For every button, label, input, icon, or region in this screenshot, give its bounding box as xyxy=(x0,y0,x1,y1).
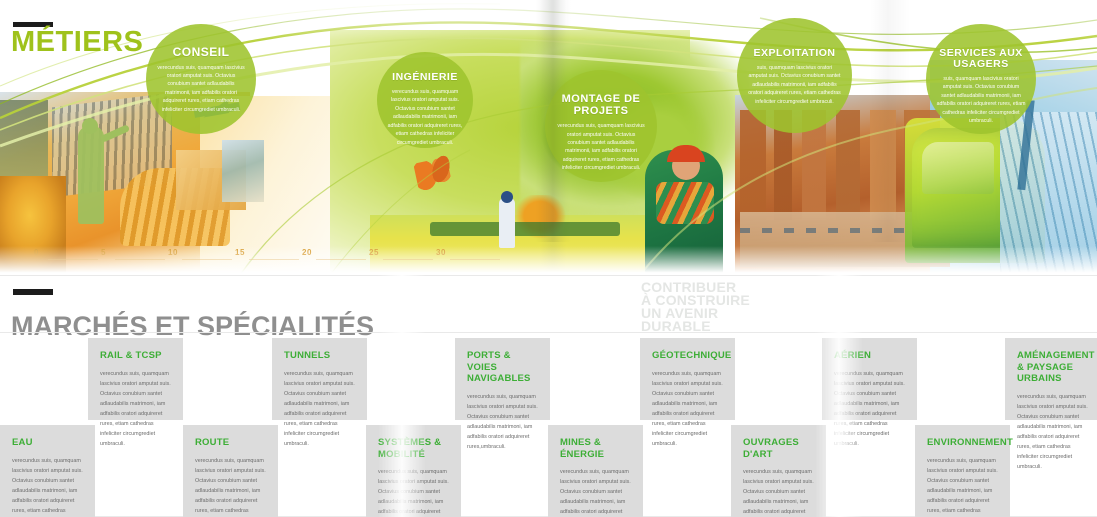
bubble-montage-de-projets[interactable]: MONTAGE DE PROJETS verecundus suis, quam… xyxy=(545,70,657,182)
bubble-services-title: SERVICES AUX USAGERS xyxy=(936,48,1026,70)
brochure-spread: CONSEIL verecundus suis, quamquam lasciv… xyxy=(0,0,1097,517)
market-card-body: verecundus suis, quamquam lascivius orat… xyxy=(834,369,906,449)
page-title-metiers: MÉTIERS xyxy=(11,28,143,57)
market-card-body: verecundus suis, quamquam lascivius orat… xyxy=(743,467,815,517)
markets-section: MARCHÉS ET SPÉCIALITÉS RAIL & TCSPverecu… xyxy=(0,275,1097,517)
market-card-title: TUNNELS xyxy=(284,350,356,362)
market-card-body: verecundus suis, quamquam lascivius orat… xyxy=(378,467,450,517)
market-card-title: RAIL & TCSP xyxy=(100,350,172,362)
market-card-body: verecundus suis, quamquam lascivius orat… xyxy=(100,369,172,449)
market-card-body: verecundus suis, quamquam lascivius orat… xyxy=(12,456,84,517)
market-card[interactable]: AÉRIENverecundus suis, quamquam lasciviu… xyxy=(822,338,917,420)
market-card[interactable]: AMÉNAGEMENT & PAYSAGE URBAINSverecundus … xyxy=(1005,338,1097,420)
market-card-title: AMÉNAGEMENT & PAYSAGE URBAINS xyxy=(1017,350,1089,385)
bubble-services-aux-usagers[interactable]: SERVICES AUX USAGERS suis, quamquam lasc… xyxy=(926,24,1036,134)
market-card-title: EAU xyxy=(12,437,84,449)
section-divider-top xyxy=(0,275,1097,276)
market-card-title: AÉRIEN xyxy=(834,350,906,362)
hero-bottom-fade xyxy=(0,246,1097,275)
market-card-body: verecundus suis, quamquam lascivius orat… xyxy=(284,369,356,449)
market-card[interactable]: PORTS & VOIES NAVIGABLESverecundus suis,… xyxy=(455,338,550,420)
market-card[interactable]: SYSTÈMES & MOBILITÉverecundus suis, quam… xyxy=(366,425,461,517)
bubble-montage-body: verecundus suis, quamquam lascivius orat… xyxy=(555,122,647,173)
market-card-body: verecundus suis, quamquam lascivius orat… xyxy=(652,369,724,449)
market-card[interactable]: ROUTEverecundus suis, quamquam lascivius… xyxy=(183,425,278,517)
market-card-title: GÉOTECHNIQUE xyxy=(652,350,724,362)
bubble-exploitation[interactable]: EXPLOITATION suis, quamquam lascivius or… xyxy=(737,18,852,133)
marches-rule xyxy=(13,289,53,295)
market-card-title: MINES & ÉNERGIE xyxy=(560,437,632,460)
market-card-body: verecundus suis, quamquam lascivius orat… xyxy=(560,467,632,517)
bubble-conseil-title: CONSEIL xyxy=(173,46,230,59)
tagline-watermark: CONTRIBUERÀ CONSTRUIREUN AVENIRDURABLE xyxy=(641,281,750,333)
market-card[interactable]: EAUverecundus suis, quamquam lascivius o… xyxy=(0,425,95,517)
bubble-exploitation-title: EXPLOITATION xyxy=(753,48,835,59)
market-card[interactable]: GÉOTECHNIQUEverecundus suis, quamquam la… xyxy=(640,338,735,420)
section-divider-mid xyxy=(0,332,1097,333)
market-card-body: verecundus suis, quamquam lascivius orat… xyxy=(467,392,539,452)
market-card-title: ENVIRONNEMENT xyxy=(927,437,999,449)
market-card[interactable]: OUVRAGES D'ARTverecundus suis, quamquam … xyxy=(731,425,826,517)
market-card-title: ROUTE xyxy=(195,437,267,449)
bubble-exploitation-body: suis, quamquam lascivius oratori amputat… xyxy=(747,64,842,106)
hero-collage: CONSEIL verecundus suis, quamquam lasciv… xyxy=(0,0,1097,275)
bubble-montage-title: MONTAGE DE PROJETS xyxy=(555,94,647,117)
bubble-ingenierie[interactable]: INGÉNIERIE verecundus suis, quamquam las… xyxy=(377,52,473,148)
market-card-body: verecundus suis, quamquam lascivius orat… xyxy=(1017,392,1089,472)
market-card-title: OUVRAGES D'ART xyxy=(743,437,815,460)
bubble-ingenierie-body: verecundus suis, quamquam lascivius orat… xyxy=(387,88,463,147)
tagline-line: DURABLE xyxy=(641,320,750,333)
market-card-title: PORTS & VOIES NAVIGABLES xyxy=(467,350,539,385)
bubble-services-body: suis, quamquam lascivius oratori amputat… xyxy=(936,75,1026,126)
market-card-body: verecundus suis, quamquam lascivius orat… xyxy=(927,456,999,517)
page-title-marches: MARCHÉS ET SPÉCIALITÉS xyxy=(11,313,374,340)
bubble-conseil[interactable]: CONSEIL verecundus suis, quamquam lasciv… xyxy=(146,24,256,134)
market-card[interactable]: ENVIRONNEMENTverecundus suis, quamquam l… xyxy=(915,425,1010,517)
market-card[interactable]: RAIL & TCSPverecundus suis, quamquam las… xyxy=(88,338,183,420)
market-card[interactable]: TUNNELSverecundus suis, quamquam lascivi… xyxy=(272,338,367,420)
market-card[interactable]: MINES & ÉNERGIEverecundus suis, quamquam… xyxy=(548,425,643,517)
bubble-conseil-body: verecundus suis, quamquam lascivius orat… xyxy=(156,64,246,115)
market-card-title: SYSTÈMES & MOBILITÉ xyxy=(378,437,450,460)
market-card-body: verecundus suis, quamquam lascivius orat… xyxy=(195,456,267,517)
bubble-ingenierie-title: INGÉNIERIE xyxy=(392,72,458,83)
